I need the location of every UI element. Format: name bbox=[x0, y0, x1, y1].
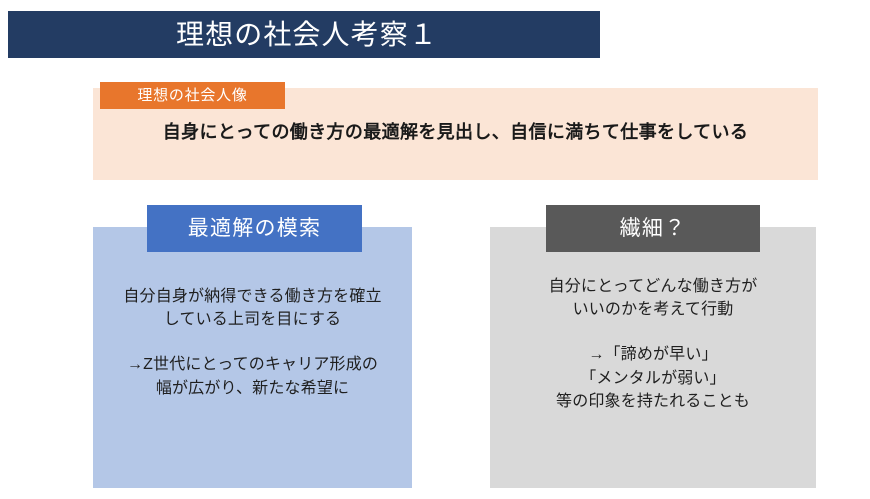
text-line: いいのかを考えて行動 bbox=[490, 298, 816, 321]
text-line: →Z世代にとってのキャリア形成の bbox=[93, 353, 412, 376]
text-line: 自分自身が納得できる働き方を確立 bbox=[93, 285, 412, 308]
column-optimal-solution-header-label: 最適解の模索 bbox=[188, 218, 322, 239]
column-optimal-solution-header: 最適解の模索 bbox=[147, 205, 362, 252]
slide-title-bar: 理想の社会人考察１ bbox=[8, 11, 600, 58]
text-line: 等の印象を持たれることも bbox=[490, 390, 816, 413]
column-optimal-solution: 自分自身が納得できる働き方を確立 している上司を目にする →Z世代にとってのキャ… bbox=[93, 227, 412, 488]
text-line: している上司を目にする bbox=[93, 308, 412, 331]
slide-canvas: 理想の社会人考察１ 理想の社会人像 自身にとっての働き方の最適解を見出し、自信に… bbox=[0, 0, 870, 499]
text-line: →「諦めが早い」 bbox=[490, 343, 816, 366]
paragraph: 自分自身が納得できる働き方を確立 している上司を目にする bbox=[93, 285, 412, 331]
column-sensitive: 自分にとってどんな働き方が いいのかを考えて行動 →「諦めが早い」 「メンタルが… bbox=[490, 227, 816, 488]
paragraph: →「諦めが早い」 「メンタルが弱い」 等の印象を持たれることも bbox=[490, 343, 816, 413]
text-line: 「メンタルが弱い」 bbox=[490, 367, 816, 390]
column-sensitive-header-label: 繊細？ bbox=[620, 218, 687, 239]
paragraph: 自分にとってどんな働き方が いいのかを考えて行動 bbox=[490, 275, 816, 321]
ideal-person-tag-label: 理想の社会人像 bbox=[137, 88, 247, 103]
text-line: 幅が広がり、新たな希望に bbox=[93, 377, 412, 400]
ideal-person-statement: 自身にとっての働き方の最適解を見出し、自信に満ちて仕事をしている bbox=[93, 118, 818, 144]
page-title: 理想の社会人考察１ bbox=[170, 21, 438, 49]
column-sensitive-header: 繊細？ bbox=[546, 205, 760, 252]
ideal-person-tag: 理想の社会人像 bbox=[100, 82, 285, 109]
column-sensitive-body: 自分にとってどんな働き方が いいのかを考えて行動 →「諦めが早い」 「メンタルが… bbox=[490, 227, 816, 413]
paragraph: →Z世代にとってのキャリア形成の 幅が広がり、新たな希望に bbox=[93, 353, 412, 399]
text-line: 自分にとってどんな働き方が bbox=[490, 275, 816, 298]
column-optimal-solution-body: 自分自身が納得できる働き方を確立 している上司を目にする →Z世代にとってのキャ… bbox=[93, 227, 412, 400]
